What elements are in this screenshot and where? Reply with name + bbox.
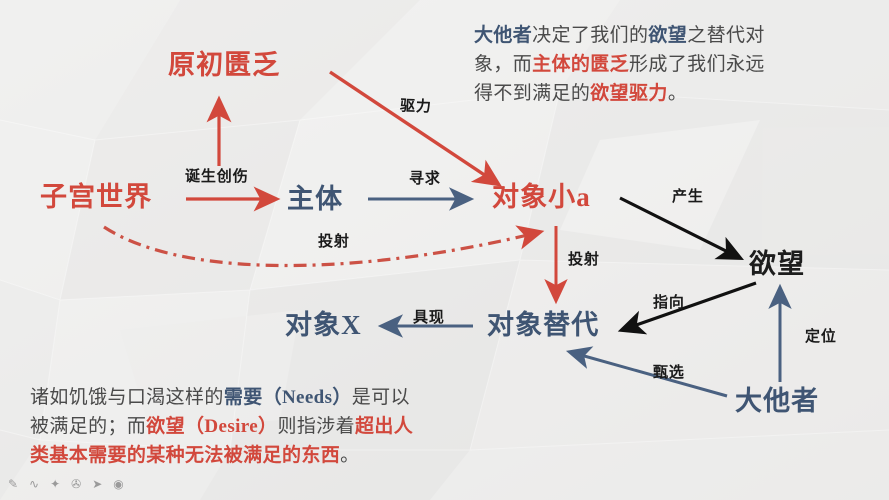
top-right-note: 大他者决定了我们的欲望之替代对象，而主体的匮乏形成了我们永远得不到满足的欲望驱力…	[474, 22, 878, 109]
note-line: 类基本需要的某种无法被满足的东西。	[30, 442, 530, 471]
edge-label-embody: 具现	[413, 311, 445, 326]
edge-label-projection-1: 投射	[318, 235, 350, 250]
note-run: 是可以	[352, 387, 410, 408]
node-womb-world[interactable]: 子宫世界	[40, 184, 152, 211]
edge-lack-to-object-a	[330, 72, 498, 184]
note-run: 之替代对	[687, 25, 765, 46]
note-run: 决定了我们的	[532, 25, 648, 46]
edge-label-locate: 定位	[805, 330, 837, 345]
edge-desire-to-substitute	[622, 283, 756, 330]
node-subject[interactable]: 主体	[287, 186, 343, 213]
edge-label-projection-2: 投射	[568, 253, 600, 268]
note-run: 主体的匮乏	[532, 54, 629, 75]
node-desire[interactable]: 欲望	[749, 251, 805, 278]
bottom-left-note: 诸如饥饿与口渴这样的需要（Needs）是可以被满足的；而欲望（Desire）则指…	[30, 384, 530, 471]
watermark-glyphs: ✎ ∿ ✦ ✇ ➤ ◉	[8, 478, 128, 490]
note-run: 诸如饥饿与口渴这样的	[30, 387, 224, 408]
note-run: 则指涉着	[277, 416, 355, 437]
node-big-other[interactable]: 大他者	[735, 388, 819, 415]
note-run: 形成了我们永远	[629, 54, 765, 75]
edge-label-birth-trauma: 诞生创伤	[185, 170, 249, 185]
edge-label-select: 甄选	[653, 366, 685, 381]
node-object-x[interactable]: 对象X	[285, 312, 362, 339]
edge-label-seek: 寻求	[409, 172, 441, 187]
note-run: 被满足的；而	[30, 416, 146, 437]
note-line: 得不到满足的欲望驱力。	[474, 80, 878, 109]
edge-big-other-to-substitute	[570, 352, 727, 396]
edge-label-drive: 驱力	[400, 99, 432, 115]
note-line: 诸如饥饿与口渴这样的需要（Needs）是可以	[30, 384, 530, 413]
note-run: 欲望（Desire）	[146, 416, 277, 437]
note-run: 得不到满足的	[474, 83, 590, 104]
note-run: 需要（Needs）	[224, 387, 352, 408]
note-line: 被满足的；而欲望（Desire）则指涉着超出人	[30, 413, 530, 442]
note-run: 象，而	[474, 54, 532, 75]
note-run: 大他者	[474, 25, 532, 46]
note-run: 欲望	[648, 25, 687, 46]
note-run: 。	[340, 445, 359, 466]
diagram-canvas: 原初匮乏 子宫世界 主体 对象小a 欲望 对象X 对象替代 大他者 诞生创伤 驱…	[0, 0, 889, 500]
note-run: 。	[668, 83, 687, 104]
node-object-little-a[interactable]: 对象小a	[492, 184, 591, 211]
edge-label-point-to: 指向	[653, 296, 685, 311]
edge-label-produce: 产生	[672, 190, 704, 205]
note-run: 超出人	[355, 416, 413, 437]
note-run: 欲望驱力	[590, 83, 668, 104]
edge-object-a-to-desire	[620, 198, 740, 258]
node-primordial-lack[interactable]: 原初匮乏	[168, 52, 280, 79]
note-line: 象，而主体的匮乏形成了我们永远	[474, 51, 878, 80]
note-run: 类基本需要的某种无法被满足的东西	[30, 445, 340, 466]
node-object-substitute[interactable]: 对象替代	[487, 312, 599, 339]
note-line: 大他者决定了我们的欲望之替代对	[474, 22, 878, 51]
